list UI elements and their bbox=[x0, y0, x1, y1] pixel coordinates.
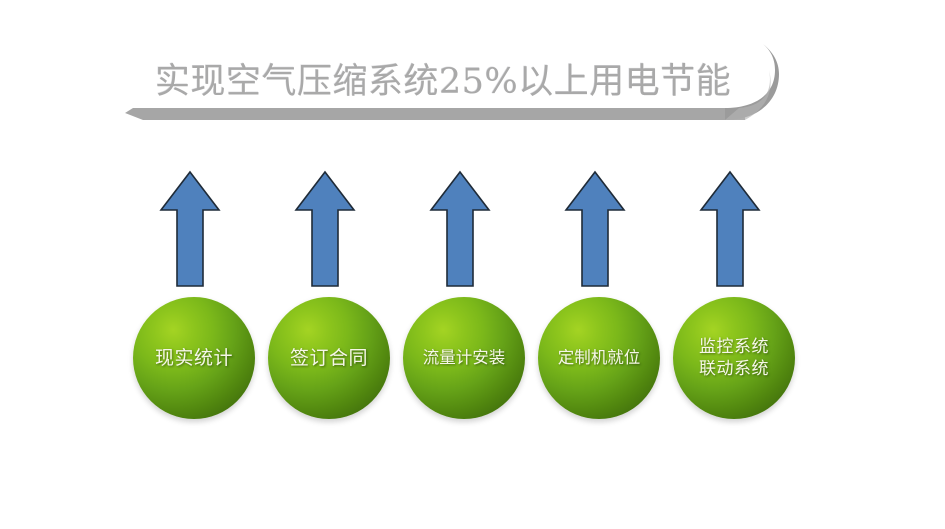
up-arrow-icon-5 bbox=[699, 170, 761, 288]
up-arrow-glyph bbox=[159, 170, 221, 288]
up-arrow-glyph bbox=[429, 170, 491, 288]
step-label: 签订合同 bbox=[286, 347, 372, 369]
step-label: 监控系统 联动系统 bbox=[695, 336, 773, 380]
up-arrow-icon-4 bbox=[564, 170, 626, 288]
step-label: 现实统计 bbox=[151, 347, 237, 369]
up-arrow-glyph bbox=[699, 170, 761, 288]
page-title: 实现空气压缩系统25%以上用电节能 bbox=[155, 48, 755, 108]
step-circle-3[interactable]: 流量计安装 bbox=[403, 297, 525, 419]
up-arrow-glyph bbox=[564, 170, 626, 288]
up-arrow-icon-3 bbox=[429, 170, 491, 288]
up-arrow-icon-1 bbox=[159, 170, 221, 288]
step-circle-4[interactable]: 定制机就位 bbox=[538, 297, 660, 419]
step-circle-5[interactable]: 监控系统 联动系统 bbox=[673, 297, 795, 419]
up-arrow-glyph bbox=[294, 170, 356, 288]
step-label: 流量计安装 bbox=[419, 348, 510, 367]
step-circle-1[interactable]: 现实统计 bbox=[133, 297, 255, 419]
up-arrow-icon-2 bbox=[294, 170, 356, 288]
slide-canvas: 实现空气压缩系统25%以上用电节能 bbox=[0, 0, 945, 529]
step-label: 定制机就位 bbox=[554, 348, 645, 367]
step-circle-2[interactable]: 签订合同 bbox=[268, 297, 390, 419]
title-banner: 实现空气压缩系统25%以上用电节能 bbox=[125, 40, 790, 130]
